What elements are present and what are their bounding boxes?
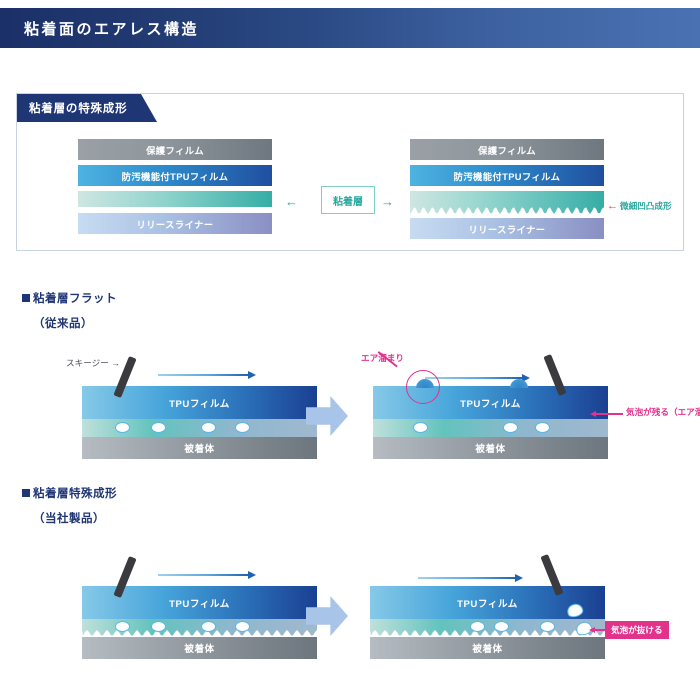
layer-release-liner: リリースライナー: [410, 218, 604, 239]
arrow-to-left-stack: ←: [285, 195, 298, 208]
escape-arrow-icon: [589, 627, 605, 633]
direction-arrow-icon: [418, 574, 523, 582]
emboss-annotation: ←微細凹凸成形: [607, 200, 672, 212]
layer-protective-film: 保護フィルム: [78, 139, 272, 160]
layer-release-liner: リリースライナー: [78, 213, 272, 234]
heading-line-1: 粘着層特殊成形: [22, 485, 117, 501]
heading-line-2: （当社製品）: [22, 510, 117, 526]
air-pocket-callout-circle: [406, 370, 440, 404]
adhesive-layer-embossed: [82, 619, 317, 637]
section-heading-product: 粘着層特殊成形 （当社製品）: [22, 485, 117, 526]
air-bubble: [535, 422, 550, 433]
substrate-layer: 被着体: [82, 637, 317, 659]
page-title: 粘着面のエアレス構造: [0, 18, 199, 39]
air-bubble: [413, 422, 428, 433]
air-bubble: [235, 621, 250, 632]
direction-arrow-icon: [158, 571, 256, 579]
heading-line-1: 粘着層フラット: [22, 290, 117, 306]
air-bubble: [151, 621, 166, 632]
layer-tpu-film: 防汚機能付TPUフィルム: [410, 165, 604, 186]
card-tab-label: 粘着層の特殊成形: [17, 94, 157, 122]
heading-line-2: （従来品）: [22, 315, 117, 331]
layer-adhesive-flat: [78, 191, 272, 207]
air-bubble: [115, 422, 130, 433]
layer-adhesive-embossed: [410, 191, 604, 215]
emboss-annotation-label: 微細凹凸成形: [620, 201, 672, 211]
page-header: 粘着面のエアレス構造: [0, 8, 700, 48]
film-stack: TPUフィルム 被着体: [82, 586, 317, 659]
adhesive-layer-flat: [82, 419, 317, 437]
arrow-to-right-stack: →: [381, 195, 394, 208]
bullet-square-icon: [22, 294, 30, 302]
bullet-square-icon: [22, 489, 30, 497]
adhesive-layer-flat: [373, 419, 608, 437]
air-bubble: [494, 621, 509, 632]
residual-bubble-arrow-icon: [590, 411, 623, 417]
air-bubble: [235, 422, 250, 433]
air-bubble: [201, 422, 216, 433]
layer-stack-product: 保護フィルム 防汚機能付TPUフィルム リリースライナー: [410, 139, 604, 239]
bubble-escape-label: 気泡が抜ける: [605, 621, 669, 639]
air-bubble: [540, 621, 555, 632]
air-bubble: [201, 621, 216, 632]
substrate-layer: 被着体: [370, 637, 605, 659]
direction-arrow-icon: [158, 371, 256, 379]
substrate-layer: 被着体: [373, 437, 608, 459]
substrate-layer: 被着体: [82, 437, 317, 459]
section-heading-conventional: 粘着層フラット （従来品）: [22, 290, 117, 331]
layer-stack-conventional: 保護フィルム 防汚機能付TPUフィルム リリースライナー: [78, 139, 272, 234]
emboss-arrow-icon: ←: [607, 200, 618, 212]
layer-protective-film: 保護フィルム: [410, 139, 604, 160]
air-bubble: [115, 621, 130, 632]
squeegee-label: スキージー →: [66, 357, 120, 369]
air-bubble: [151, 422, 166, 433]
layer-tpu-film: 防汚機能付TPUフィルム: [78, 165, 272, 186]
residual-bubble-label: 気泡が残る（エア溜り）: [626, 406, 700, 418]
film-stack: TPUフィルム 被着体: [82, 386, 317, 459]
adhesive-layer-embossed: [370, 619, 605, 637]
air-bubble: [470, 621, 485, 632]
air-bubble: [503, 422, 518, 433]
adhesive-layer-callout-box: 粘着層: [321, 186, 375, 214]
film-stack: TPUフィルム 被着体: [370, 586, 605, 659]
